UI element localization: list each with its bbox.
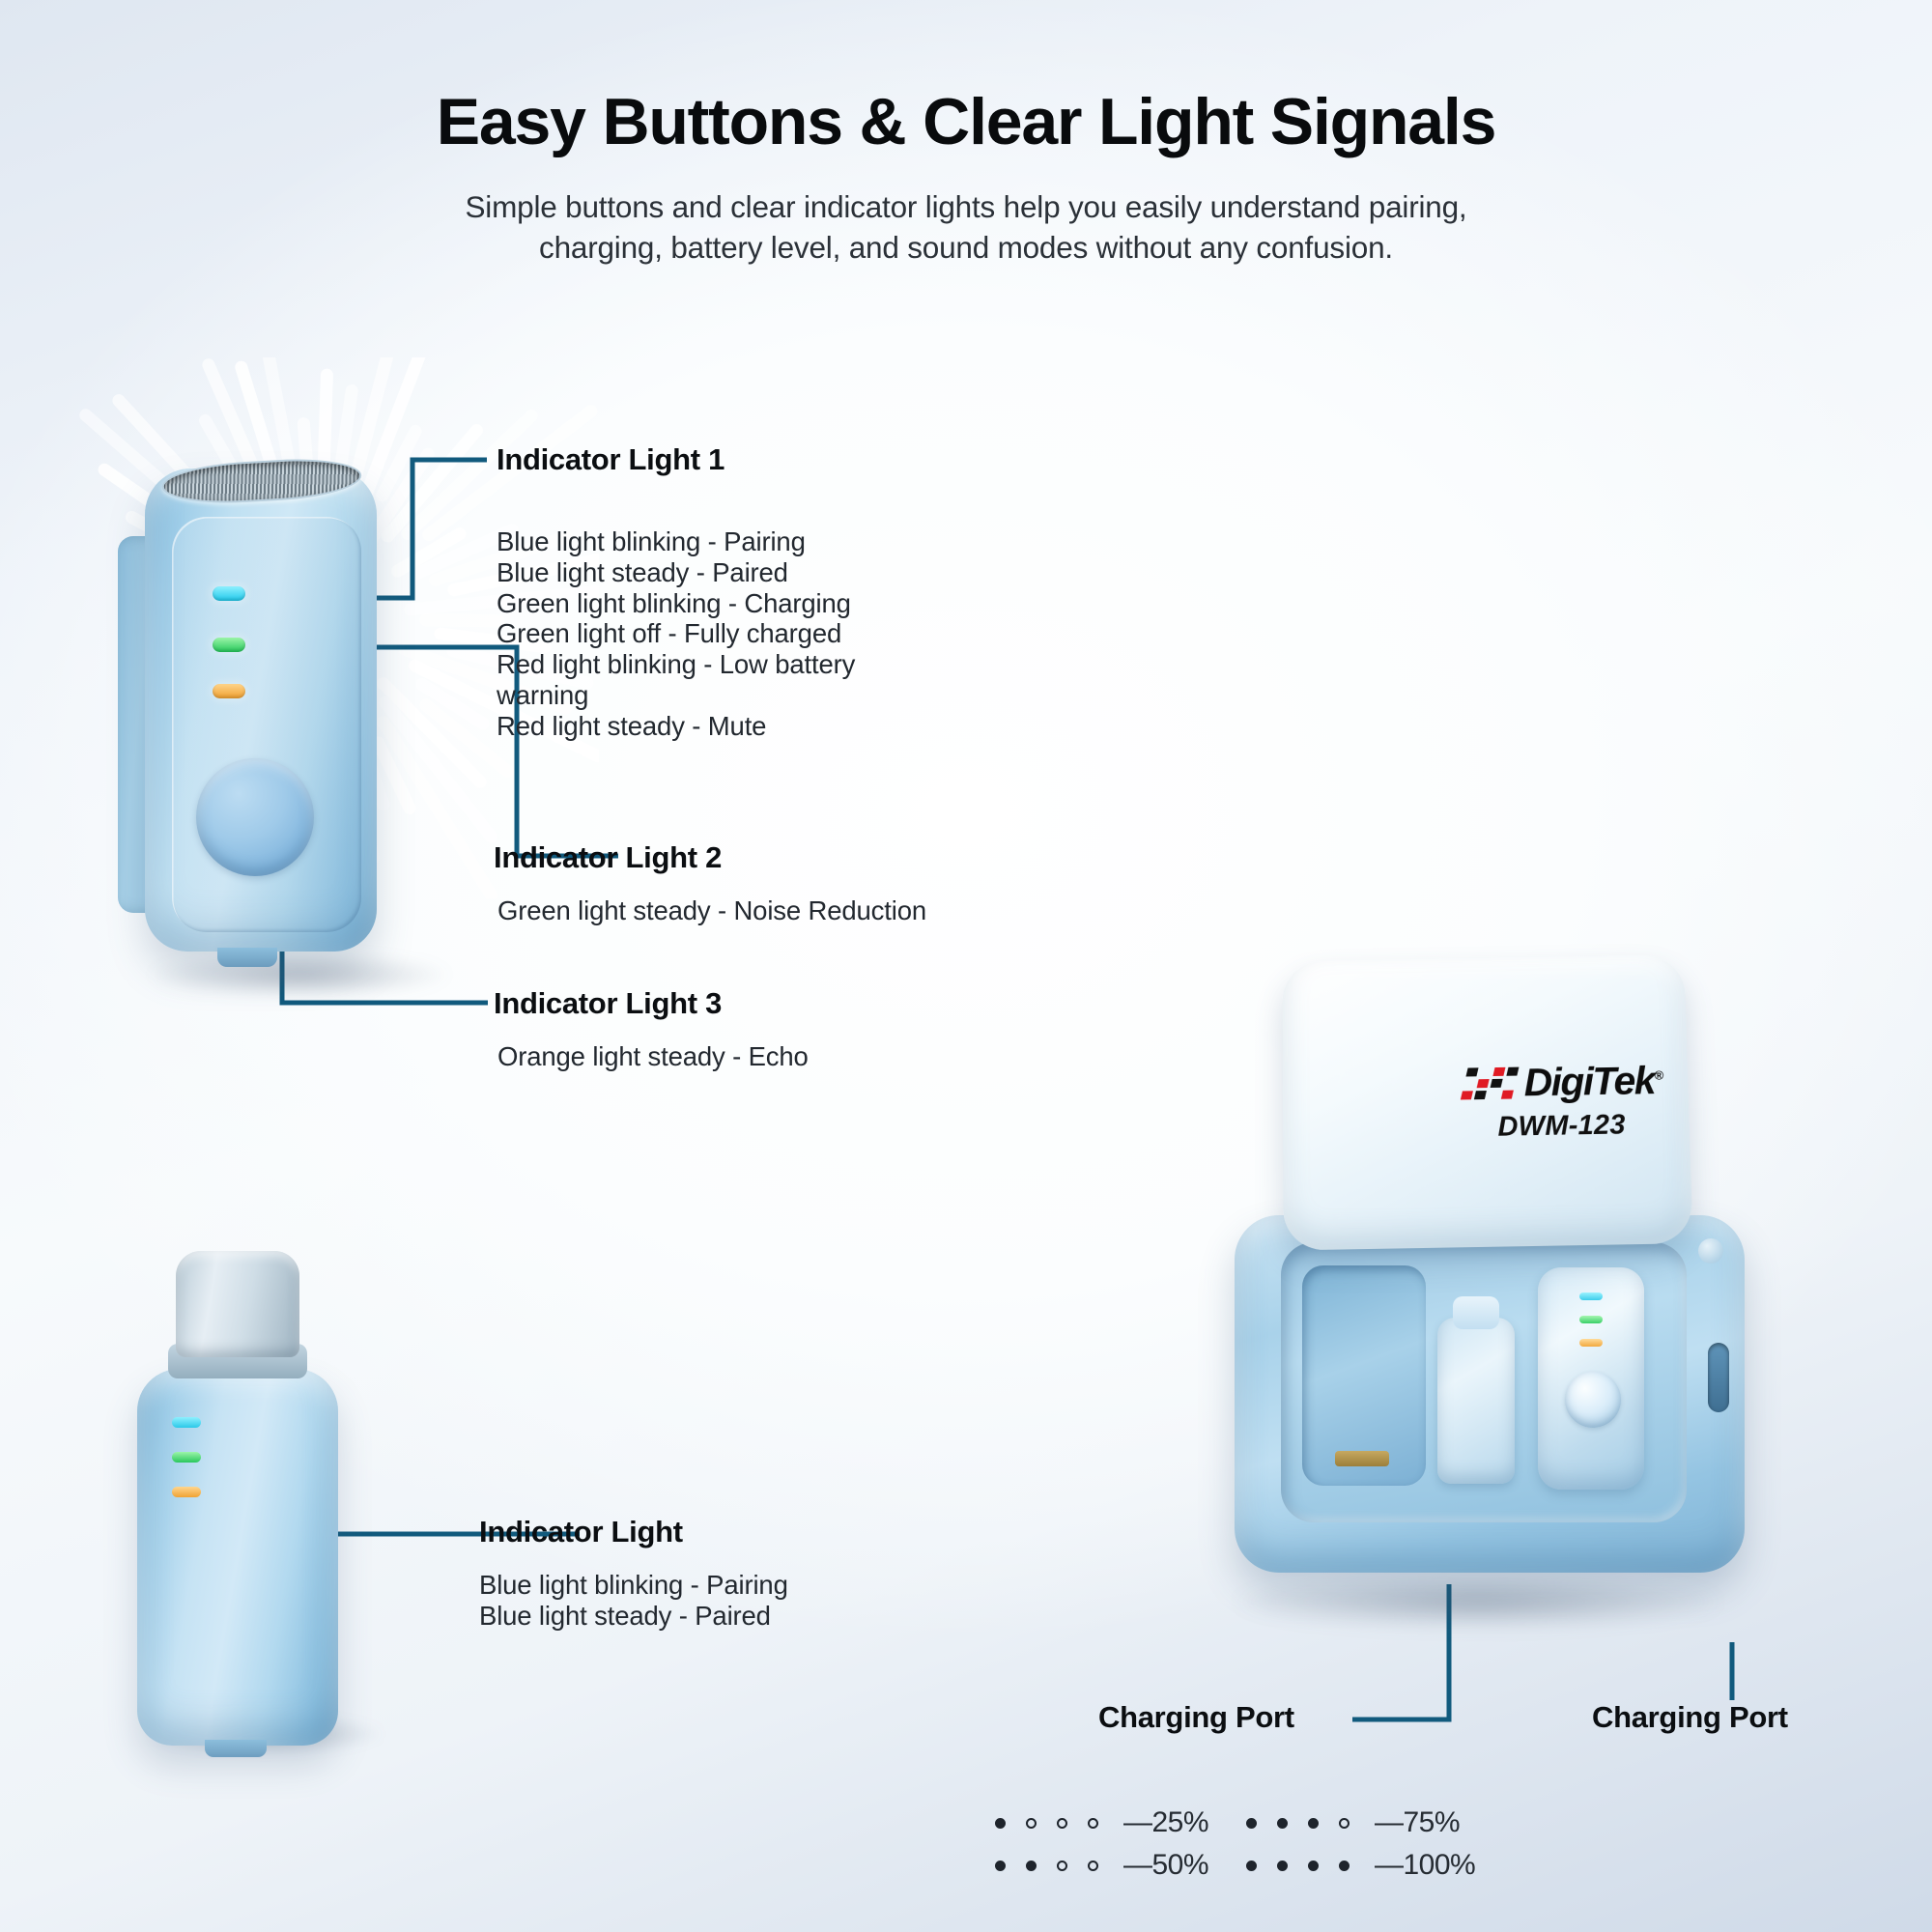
light1-desc-line-6: warning	[497, 680, 855, 711]
case-lid: DigiTek® DWM-123	[1282, 954, 1692, 1250]
charging-port-label-receiver: Charging Port	[1592, 1700, 1788, 1735]
page-title: Easy Buttons & Clear Light Signals	[0, 89, 1932, 155]
product-model-number: DWM-123	[1497, 1107, 1755, 1144]
battery-legend-item: —100%	[1246, 1849, 1475, 1882]
callout-title-light-2: Indicator Light 2	[494, 840, 722, 875]
battery-legend-label: —100%	[1375, 1849, 1475, 1882]
mic-led-2-green	[213, 638, 245, 652]
callout-title-light-3: Indicator Light 3	[494, 986, 722, 1021]
receiver-led-1-blue	[172, 1417, 201, 1428]
case-unit-led-1-blue	[1579, 1293, 1603, 1300]
receiver-led-2-green	[172, 1452, 201, 1463]
receiver-led-3-orange	[172, 1487, 201, 1497]
receiver-usb-c-plug	[176, 1251, 299, 1357]
mic-foot	[217, 948, 277, 967]
battery-dots-icon	[995, 1861, 1098, 1871]
mic-led-3-orange	[213, 684, 245, 698]
receiver-desc-line-2: Blue light steady - Paired	[479, 1601, 788, 1632]
header: Easy Buttons & Clear Light Signals Simpl…	[0, 89, 1932, 268]
battery-legend-item: —25%	[995, 1806, 1246, 1839]
case-shadow	[1227, 1575, 1729, 1629]
light1-desc-line-1: Blue light blinking - Pairing	[497, 526, 855, 557]
light1-desc-line-7: Red light steady - Mute	[497, 711, 855, 742]
case-unit-led-2-green	[1579, 1316, 1603, 1323]
battery-dots-icon	[995, 1818, 1098, 1829]
callout-body-receiver-light: Blue light blinking - PairingBlue light …	[479, 1570, 788, 1632]
digitek-checker-icon	[1461, 1067, 1520, 1100]
light3-desc-line-1: Orange light steady - Echo	[497, 1041, 809, 1072]
callout-body-light-2: Green light steady - Noise Reduction	[497, 895, 926, 926]
light1-desc-line-3: Green light blinking - Charging	[497, 588, 855, 619]
callout-title-receiver-light: Indicator Light	[479, 1515, 683, 1549]
battery-dots-icon	[1246, 1861, 1350, 1871]
callout-title-light-1: Indicator Light 1	[497, 442, 724, 477]
battery-legend-label: —50%	[1123, 1849, 1208, 1882]
battery-legend-item: —75%	[1246, 1806, 1460, 1839]
microphone-transmitter-image	[87, 372, 502, 1048]
case-unit-led-3-orange	[1579, 1339, 1603, 1347]
battery-legend-label: —25%	[1123, 1806, 1208, 1839]
case-unit-button	[1565, 1372, 1621, 1428]
mic-shadow	[145, 952, 454, 998]
light1-desc-line-5: Red light blinking - Low battery	[497, 649, 855, 680]
callout-body-light-3: Orange light steady - Echo	[497, 1041, 809, 1072]
usb-c-receiver-image	[116, 1251, 435, 1773]
battery-legend-row: —25%—75%	[995, 1802, 1536, 1844]
battery-legend-label: —75%	[1375, 1806, 1460, 1839]
light1-desc-line-2: Blue light steady - Paired	[497, 557, 855, 588]
battery-legend-row: —50%—100%	[995, 1844, 1536, 1887]
brand-name: DigiTek®	[1523, 1058, 1662, 1105]
case-charging-port	[1708, 1343, 1729, 1412]
mic-multifunction-button	[196, 758, 314, 876]
charging-port-label-case: Charging Port	[1098, 1700, 1294, 1735]
light2-desc-line-1: Green light steady - Noise Reduction	[497, 895, 926, 926]
charging-case-image: DigiTek® DWM-123	[1159, 956, 1797, 1633]
case-mic-holder	[1437, 1318, 1515, 1484]
page-subtitle: Simple buttons and clear indicator light…	[0, 187, 1932, 268]
receiver-body	[137, 1369, 338, 1746]
subtitle-line-2: charging, battery level, and sound modes…	[0, 228, 1932, 269]
subtitle-line-1: Simple buttons and clear indicator light…	[0, 187, 1932, 228]
case-hinge	[1698, 1238, 1723, 1264]
mic-led-1-blue	[213, 586, 245, 601]
battery-legend-item: —50%	[995, 1849, 1246, 1882]
battery-dots-icon	[1246, 1818, 1350, 1829]
registered-trademark-icon: ®	[1654, 1067, 1662, 1082]
receiver-foot	[205, 1740, 267, 1757]
light1-desc-line-4: Green light off - Fully charged	[497, 618, 855, 649]
case-mic-holder-top	[1453, 1296, 1499, 1329]
battery-level-legend: —25%—75%—50%—100%	[995, 1802, 1536, 1887]
brand-name-text: DigiTek	[1523, 1058, 1655, 1104]
case-charging-pins	[1335, 1451, 1389, 1466]
callout-body-light-1: Blue light blinking - PairingBlue light …	[497, 526, 855, 741]
brand-logo: DigiTek® DWM-123	[1463, 1056, 1755, 1144]
receiver-desc-line-1: Blue light blinking - Pairing	[479, 1570, 788, 1601]
